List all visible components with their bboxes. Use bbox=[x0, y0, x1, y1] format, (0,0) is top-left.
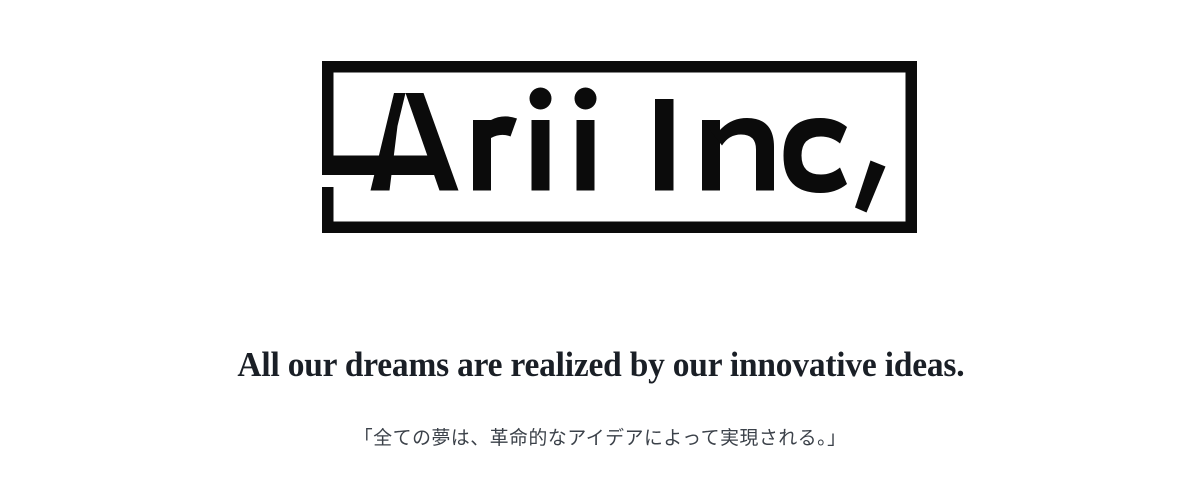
logo-comma bbox=[855, 161, 886, 213]
logo-letter-a bbox=[322, 93, 459, 191]
logo-container bbox=[0, 0, 1200, 300]
logo-letter-r bbox=[473, 116, 517, 190]
logo-letter-n bbox=[702, 118, 774, 191]
subtitle-japanese: 「全ての夢は、革命的なアイデアによって実現される。」 bbox=[6, 424, 1194, 452]
logo-frame bbox=[322, 61, 917, 233]
logo-letter-i-2 bbox=[575, 88, 597, 191]
arii-inc-logo bbox=[310, 50, 930, 246]
tagline: All our dreams are realized by our innov… bbox=[28, 345, 1174, 385]
logo-letter-cap-i bbox=[655, 99, 674, 191]
logo-letter-c bbox=[784, 118, 848, 193]
page-root: All our dreams are realized by our innov… bbox=[0, 0, 1200, 490]
logo-letter-i-1 bbox=[530, 88, 552, 191]
logo-wordmark bbox=[322, 88, 886, 213]
